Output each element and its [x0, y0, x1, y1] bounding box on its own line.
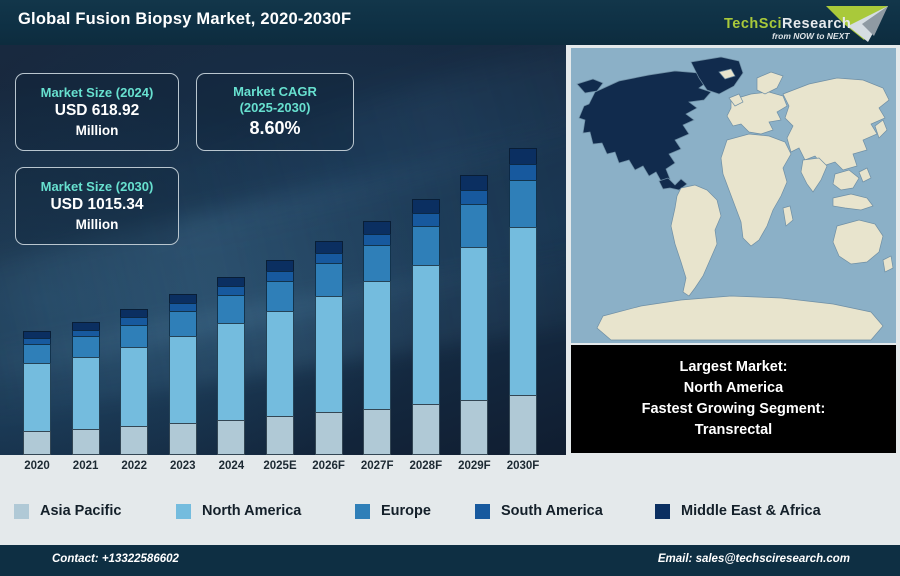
bar-segment-north-america: [23, 363, 51, 431]
x-axis-tick-2021: 2021: [58, 460, 114, 472]
chart-legend: Asia PacificNorth AmericaEuropeSouth Ame…: [0, 485, 900, 537]
bar-segment-asia-pacific: [315, 412, 343, 455]
legend-item-europe[interactable]: Europe: [355, 485, 431, 537]
card-label: Market Size (2030): [41, 179, 154, 196]
card-unit: Million: [76, 122, 119, 140]
bar-segment-asia-pacific: [460, 400, 488, 455]
fastest-segment-value: Transrectal: [695, 420, 772, 441]
bar-segment-north-america: [72, 357, 100, 429]
bar-2024: [217, 277, 245, 455]
card-sublabel: (2025-2030): [240, 100, 311, 117]
footer-bar: Contact: +13322586602 Email: sales@techs…: [0, 545, 900, 576]
bar-segment-south-america: [460, 190, 488, 204]
bar-2023: [169, 294, 197, 455]
bar-segment-europe: [217, 295, 245, 322]
x-axis-tick-2024: 2024: [203, 460, 259, 472]
bar-segment-south-america: [120, 317, 148, 325]
bar-segment-middle-east-africa: [460, 175, 488, 190]
market-size-2030-card: Market Size (2030) USD 1015.34 Million: [15, 167, 179, 245]
card-value: USD 618.92: [55, 101, 139, 121]
bar-segment-south-america: [363, 234, 391, 246]
legend-swatch-icon: [355, 504, 370, 519]
bar-2030F: [509, 148, 537, 455]
bar-segment-north-america: [169, 336, 197, 424]
infographic-page: Global Fusion Biopsy Market, 2020-2030F …: [0, 0, 900, 576]
bar-segment-asia-pacific: [217, 420, 245, 455]
bar-segment-south-america: [412, 213, 440, 226]
x-axis-tick-2028F: 2028F: [398, 460, 454, 472]
bar-segment-north-america: [412, 265, 440, 405]
bar-segment-south-america: [315, 253, 343, 264]
bar-segment-asia-pacific: [363, 409, 391, 455]
bar-segment-asia-pacific: [23, 431, 51, 455]
world-map-svg: [571, 48, 896, 343]
bar-segment-south-america: [169, 303, 197, 311]
bar-segment-europe: [72, 336, 100, 356]
legend-label: Europe: [381, 503, 431, 519]
bar-segment-europe: [315, 263, 343, 296]
bar-segment-asia-pacific: [266, 416, 294, 455]
legend-item-north-america[interactable]: North America: [176, 485, 301, 537]
largest-market-value: North America: [684, 378, 783, 399]
bar-segment-europe: [412, 226, 440, 265]
largest-market-label: Largest Market:: [680, 357, 788, 378]
bar-segment-south-america: [217, 286, 245, 295]
bar-segment-asia-pacific: [72, 429, 100, 455]
legend-label: South America: [501, 503, 603, 519]
techsci-research-logo: TechSci Research from NOW to NEXT: [716, 2, 894, 44]
bar-segment-middle-east-africa: [169, 294, 197, 303]
bar-segment-asia-pacific: [509, 395, 537, 455]
legend-label: North America: [202, 503, 301, 519]
x-axis-tick-2027F: 2027F: [349, 460, 405, 472]
x-axis-tick-2030F: 2030F: [495, 460, 551, 472]
legend-label: Middle East & Africa: [681, 503, 821, 519]
svg-text:Research: Research: [782, 16, 851, 32]
x-axis-tick-2026F: 2026F: [301, 460, 357, 472]
bar-segment-north-america: [217, 323, 245, 420]
bar-segment-middle-east-africa: [72, 322, 100, 329]
market-size-2024-card: Market Size (2024) USD 618.92 Million: [15, 73, 179, 151]
bar-segment-north-america: [460, 247, 488, 400]
x-axis-tick-2029F: 2029F: [446, 460, 502, 472]
bar-2022: [120, 309, 148, 455]
bar-segment-middle-east-africa: [23, 331, 51, 338]
bar-segment-middle-east-africa: [120, 309, 148, 317]
bar-segment-asia-pacific: [169, 423, 197, 455]
bar-segment-europe: [120, 325, 148, 347]
bar-segment-south-america: [72, 330, 100, 337]
legend-item-south-america[interactable]: South America: [475, 485, 603, 537]
bar-segment-middle-east-africa: [217, 277, 245, 287]
bar-segment-europe: [266, 281, 294, 311]
bar-segment-europe: [169, 311, 197, 335]
page-title: Global Fusion Biopsy Market, 2020-2030F: [18, 10, 351, 29]
bar-segment-middle-east-africa: [266, 260, 294, 271]
legend-item-asia-pacific[interactable]: Asia Pacific: [14, 485, 121, 537]
x-axis-tick-2022: 2022: [106, 460, 162, 472]
bar-segment-north-america: [266, 311, 294, 417]
bar-segment-north-america: [315, 296, 343, 412]
svg-text:TechSci: TechSci: [724, 16, 782, 32]
bar-segment-middle-east-africa: [412, 199, 440, 213]
card-label: Market Size (2024): [41, 85, 154, 102]
bar-segment-north-america: [363, 281, 391, 409]
card-unit: Million: [76, 216, 119, 234]
bar-2029F: [460, 175, 488, 455]
x-axis-tick-2023: 2023: [155, 460, 211, 472]
header-bar: Global Fusion Biopsy Market, 2020-2030F …: [0, 0, 900, 45]
bar-segment-south-america: [266, 271, 294, 281]
bar-segment-europe: [460, 204, 488, 247]
bar-segment-europe: [363, 245, 391, 281]
bar-segment-middle-east-africa: [363, 221, 391, 234]
bar-segment-asia-pacific: [120, 426, 148, 455]
bar-segment-asia-pacific: [412, 404, 440, 455]
x-axis-tick-2020: 2020: [9, 460, 65, 472]
legend-swatch-icon: [655, 504, 670, 519]
bar-segment-middle-east-africa: [315, 241, 343, 252]
bar-segment-middle-east-africa: [509, 148, 537, 164]
bar-segment-south-america: [509, 164, 537, 180]
bar-2020: [23, 331, 51, 455]
market-cagr-card: Market CAGR (2025-2030) 8.60%: [196, 73, 354, 151]
legend-swatch-icon: [14, 504, 29, 519]
card-value: USD 1015.34: [50, 195, 143, 215]
x-axis: 202020212022202320242025E2026F2027F2028F…: [0, 455, 566, 485]
bar-segment-north-america: [509, 227, 537, 395]
svg-text:from NOW to NEXT: from NOW to NEXT: [772, 31, 850, 41]
bar-2025E: [266, 260, 294, 455]
card-value: 8.60%: [249, 117, 300, 140]
key-findings-callout: Largest Market: North America Fastest Gr…: [571, 345, 896, 453]
bar-2028F: [412, 199, 440, 455]
world-map: [571, 48, 896, 343]
bar-segment-europe: [509, 180, 537, 227]
bar-2026F: [315, 241, 343, 455]
fastest-segment-label: Fastest Growing Segment:: [642, 399, 826, 420]
footer-email: Email: sales@techsciresearch.com: [658, 553, 850, 565]
legend-swatch-icon: [176, 504, 191, 519]
legend-swatch-icon: [475, 504, 490, 519]
bar-segment-europe: [23, 344, 51, 363]
card-label: Market CAGR: [233, 84, 317, 101]
legend-item-middle-east-africa[interactable]: Middle East & Africa: [655, 485, 821, 537]
footer-contact: Contact: +13322586602: [52, 553, 179, 565]
bar-segment-north-america: [120, 347, 148, 426]
bar-2027F: [363, 221, 391, 455]
bar-2021: [72, 322, 100, 455]
x-axis-tick-2025E: 2025E: [252, 460, 308, 472]
legend-label: Asia Pacific: [40, 503, 121, 519]
